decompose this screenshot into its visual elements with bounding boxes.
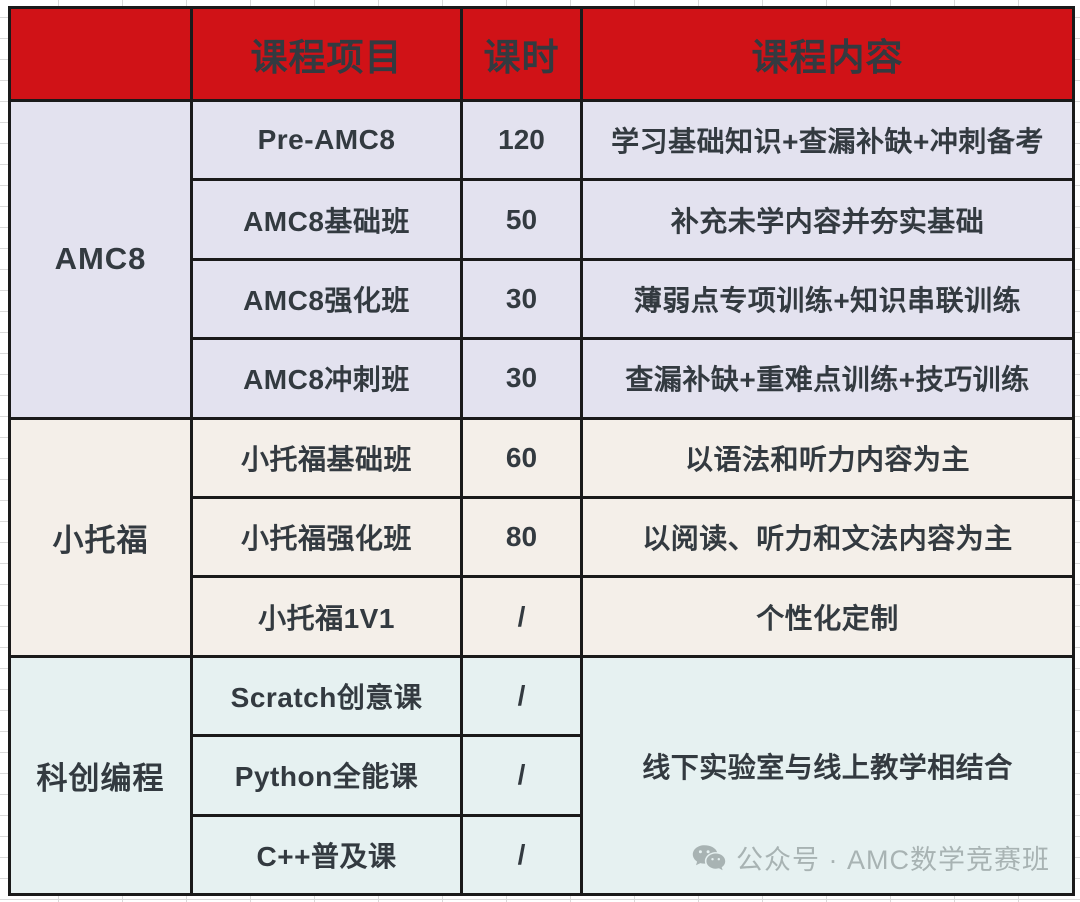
course-content: 薄弱点专项训练+知识串联训练 [582, 259, 1074, 338]
course-content-merged: 线下实验室与线上教学相结合 公众号 · [582, 656, 1074, 894]
course-hours: 30 [462, 259, 582, 338]
table-row: 小托福 小托福基础班 60 以语法和听力内容为主 [10, 418, 1074, 497]
program-name: AMC8基础班 [192, 180, 462, 259]
wechat-icon [692, 844, 726, 872]
course-hours: 80 [462, 497, 582, 576]
course-table: 课程项目 课时 课程内容 AMC8 Pre-AMC8 120 学习基础知识+查漏… [8, 6, 1075, 896]
course-hours: / [462, 736, 582, 815]
program-name: C++普及课 [192, 815, 462, 894]
program-name: 小托福基础班 [192, 418, 462, 497]
course-content: 个性化定制 [582, 577, 1074, 656]
course-content: 查漏补缺+重难点训练+技巧训练 [582, 339, 1074, 418]
watermark-text: 公众号 · AMC数学竞赛班 [736, 838, 1050, 877]
table-row: AMC8 Pre-AMC8 120 学习基础知识+查漏补缺+冲刺备考 [10, 101, 1074, 180]
section-label-amc8: AMC8 [10, 101, 192, 419]
course-hours: / [462, 815, 582, 894]
column-header-content: 课程内容 [582, 8, 1074, 101]
course-hours: 60 [462, 418, 582, 497]
course-hours: 30 [462, 339, 582, 418]
course-content: 以阅读、听力和文法内容为主 [582, 497, 1074, 576]
course-hours: / [462, 577, 582, 656]
section-label-toefl-junior: 小托福 [10, 418, 192, 656]
course-content: 学习基础知识+查漏补缺+冲刺备考 [582, 101, 1074, 180]
course-content: 补充未学内容并夯实基础 [582, 180, 1074, 259]
table-header: 课程项目 课时 课程内容 [10, 8, 1074, 101]
course-table-container: 课程项目 课时 课程内容 AMC8 Pre-AMC8 120 学习基础知识+查漏… [8, 6, 1072, 896]
program-name: 小托福1V1 [192, 577, 462, 656]
table-body: AMC8 Pre-AMC8 120 学习基础知识+查漏补缺+冲刺备考 AMC8基… [10, 101, 1074, 895]
program-name: AMC8强化班 [192, 259, 462, 338]
course-content: 以语法和听力内容为主 [582, 418, 1074, 497]
course-hours: 120 [462, 101, 582, 180]
table-header-row: 课程项目 课时 课程内容 [10, 8, 1074, 101]
program-name: 小托福强化班 [192, 497, 462, 576]
column-header-program: 课程项目 [192, 8, 462, 101]
column-header-category [10, 8, 192, 101]
section-label-coding: 科创编程 [10, 656, 192, 894]
course-content-text: 线下实验室与线上教学相结合 [589, 746, 1066, 786]
watermark: 公众号 · AMC数学竞赛班 [692, 838, 1050, 877]
program-name: Pre-AMC8 [192, 101, 462, 180]
program-name: Python全能课 [192, 736, 462, 815]
table-row: 科创编程 Scratch创意课 / 线下实验室与线上教学相结合 [10, 656, 1074, 735]
course-hours: / [462, 656, 582, 735]
program-name: AMC8冲刺班 [192, 339, 462, 418]
course-hours: 50 [462, 180, 582, 259]
column-header-hours: 课时 [462, 8, 582, 101]
program-name: Scratch创意课 [192, 656, 462, 735]
